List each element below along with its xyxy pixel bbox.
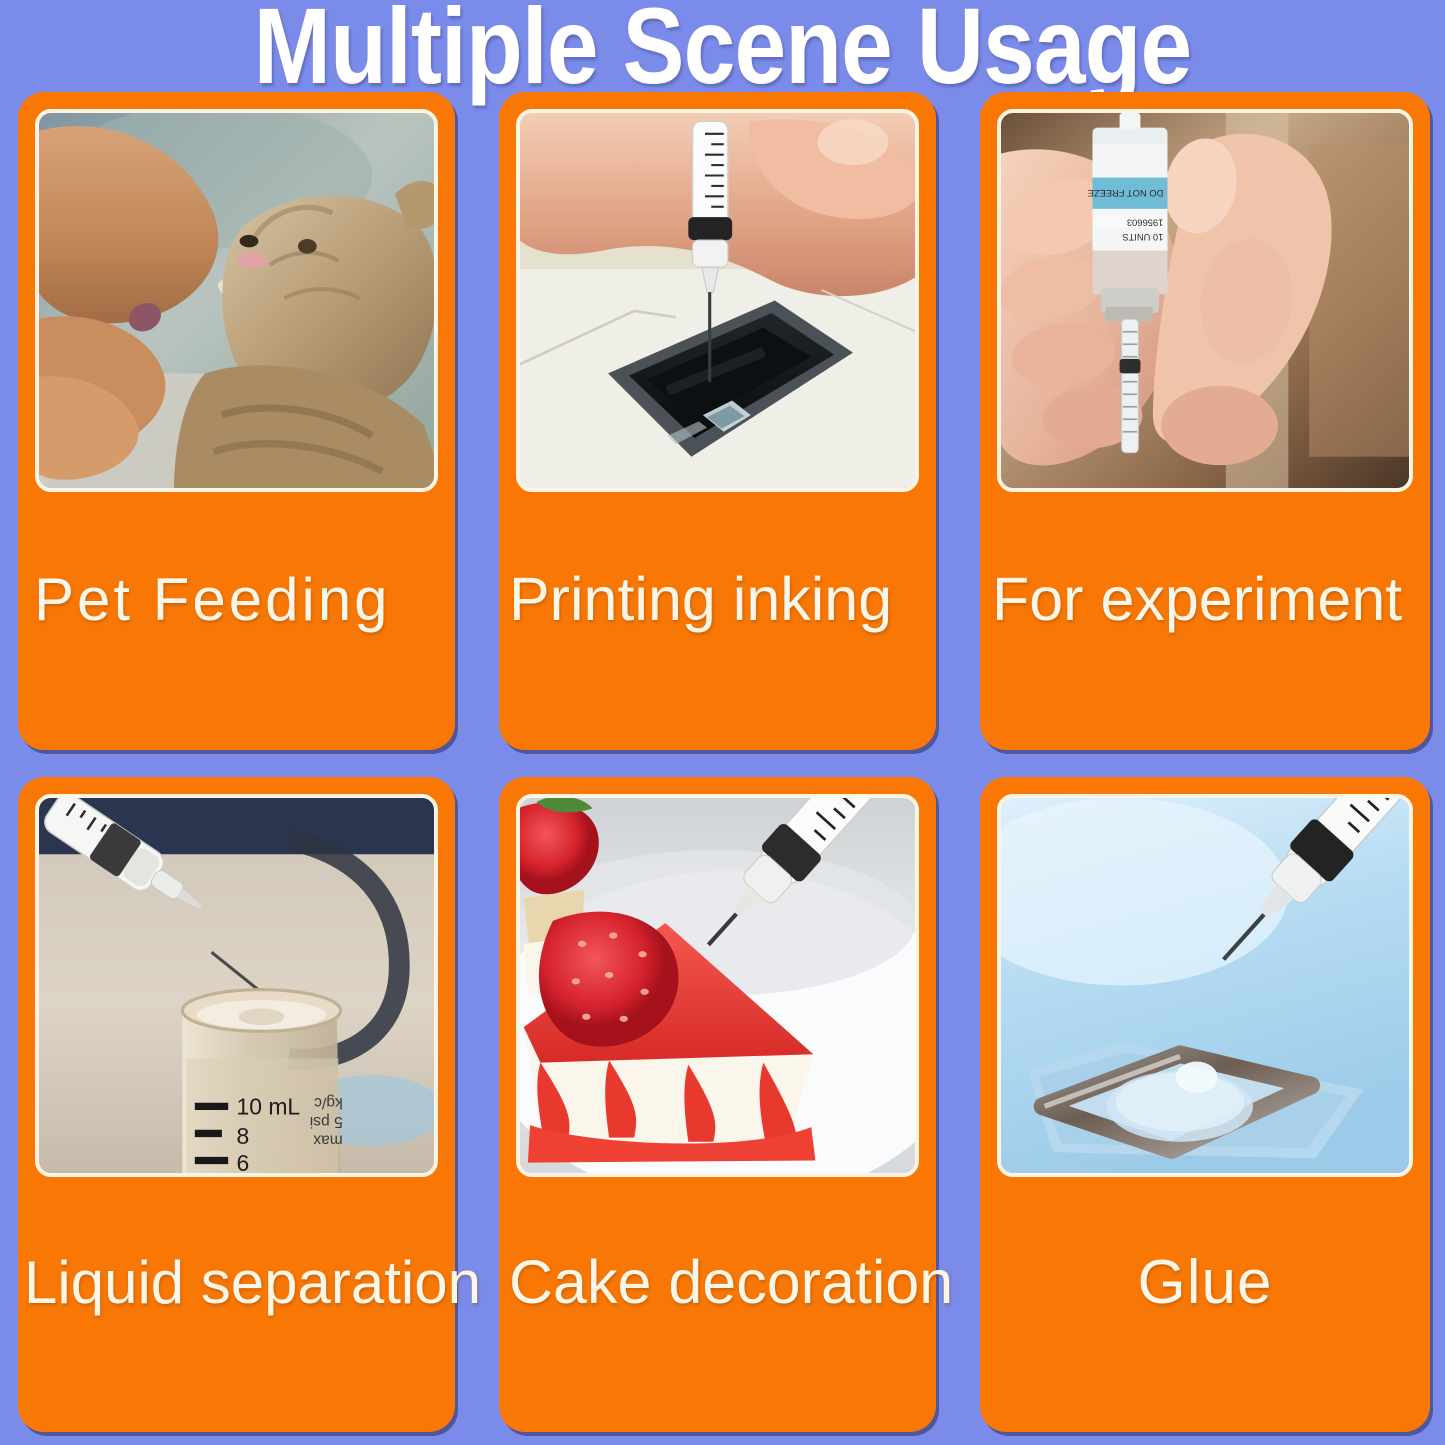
photo-printing-inking — [520, 113, 915, 488]
photo-glue — [1001, 798, 1409, 1173]
svg-text:10 mL: 10 mL — [237, 1094, 301, 1120]
svg-text:max: max — [313, 1132, 343, 1149]
photo-frame-glue — [997, 794, 1413, 1177]
caption-glue: Glue — [980, 1177, 1430, 1432]
photo-frame-cake-decoration — [516, 794, 919, 1177]
photo-frame-printing-inking — [516, 109, 919, 492]
scene-card-pet-feeding[interactable]: Pet Feeding — [18, 92, 455, 750]
page-title: Multiple Scene Usage — [101, 0, 1344, 96]
caption-for-experiment: For experiment — [980, 492, 1430, 750]
photo-frame-for-experiment: 10 UNITS 1956603 DO NOT FREEZE — [997, 109, 1413, 492]
infographic-board: Multiple Scene Usage — [0, 0, 1445, 1445]
photo-frame-liquid-separation: 10 mL 8 6 max 5 psi kg/c — [35, 794, 438, 1177]
svg-text:6: 6 — [237, 1150, 250, 1173]
scene-card-glue[interactable]: Glue — [980, 777, 1430, 1432]
caption-liquid-separation: Liquid separation — [18, 1177, 455, 1432]
svg-text:5 psi: 5 psi — [310, 1113, 343, 1130]
photo-frame-pet-feeding — [35, 109, 438, 492]
svg-text:10 UNITS: 10 UNITS — [1122, 232, 1163, 242]
photo-pet-feeding — [39, 113, 434, 488]
caption-label: Glue — [1138, 1250, 1273, 1315]
caption-cake-decoration: Cake decoration — [499, 1177, 936, 1432]
photo-for-experiment: 10 UNITS 1956603 DO NOT FREEZE — [1001, 113, 1409, 488]
scene-card-for-experiment[interactable]: 10 UNITS 1956603 DO NOT FREEZE — [980, 92, 1430, 750]
scene-card-printing-inking[interactable]: Printing inking — [499, 92, 936, 750]
caption-label: For experiment — [992, 567, 1402, 631]
photo-cake-decoration — [520, 798, 915, 1173]
caption-printing-inking: Printing inking — [499, 492, 936, 750]
caption-label: Printing inking — [509, 567, 892, 631]
caption-label: Pet Feeding — [34, 568, 391, 631]
svg-text:kg/c: kg/c — [314, 1094, 343, 1111]
caption-label: Cake decoration — [509, 1250, 953, 1314]
caption-pet-feeding: Pet Feeding — [18, 492, 455, 750]
svg-text:1956603: 1956603 — [1127, 217, 1163, 227]
scene-card-liquid-separation[interactable]: 10 mL 8 6 max 5 psi kg/c — [18, 777, 455, 1432]
svg-text:8: 8 — [237, 1123, 250, 1149]
caption-label: Liquid separation — [24, 1251, 481, 1314]
photo-liquid-separation: 10 mL 8 6 max 5 psi kg/c — [39, 798, 434, 1173]
scene-card-grid: Pet Feeding — [18, 92, 1430, 1432]
scene-card-cake-decoration[interactable]: Cake decoration — [499, 777, 936, 1432]
svg-text:DO NOT FREEZE: DO NOT FREEZE — [1088, 188, 1164, 198]
